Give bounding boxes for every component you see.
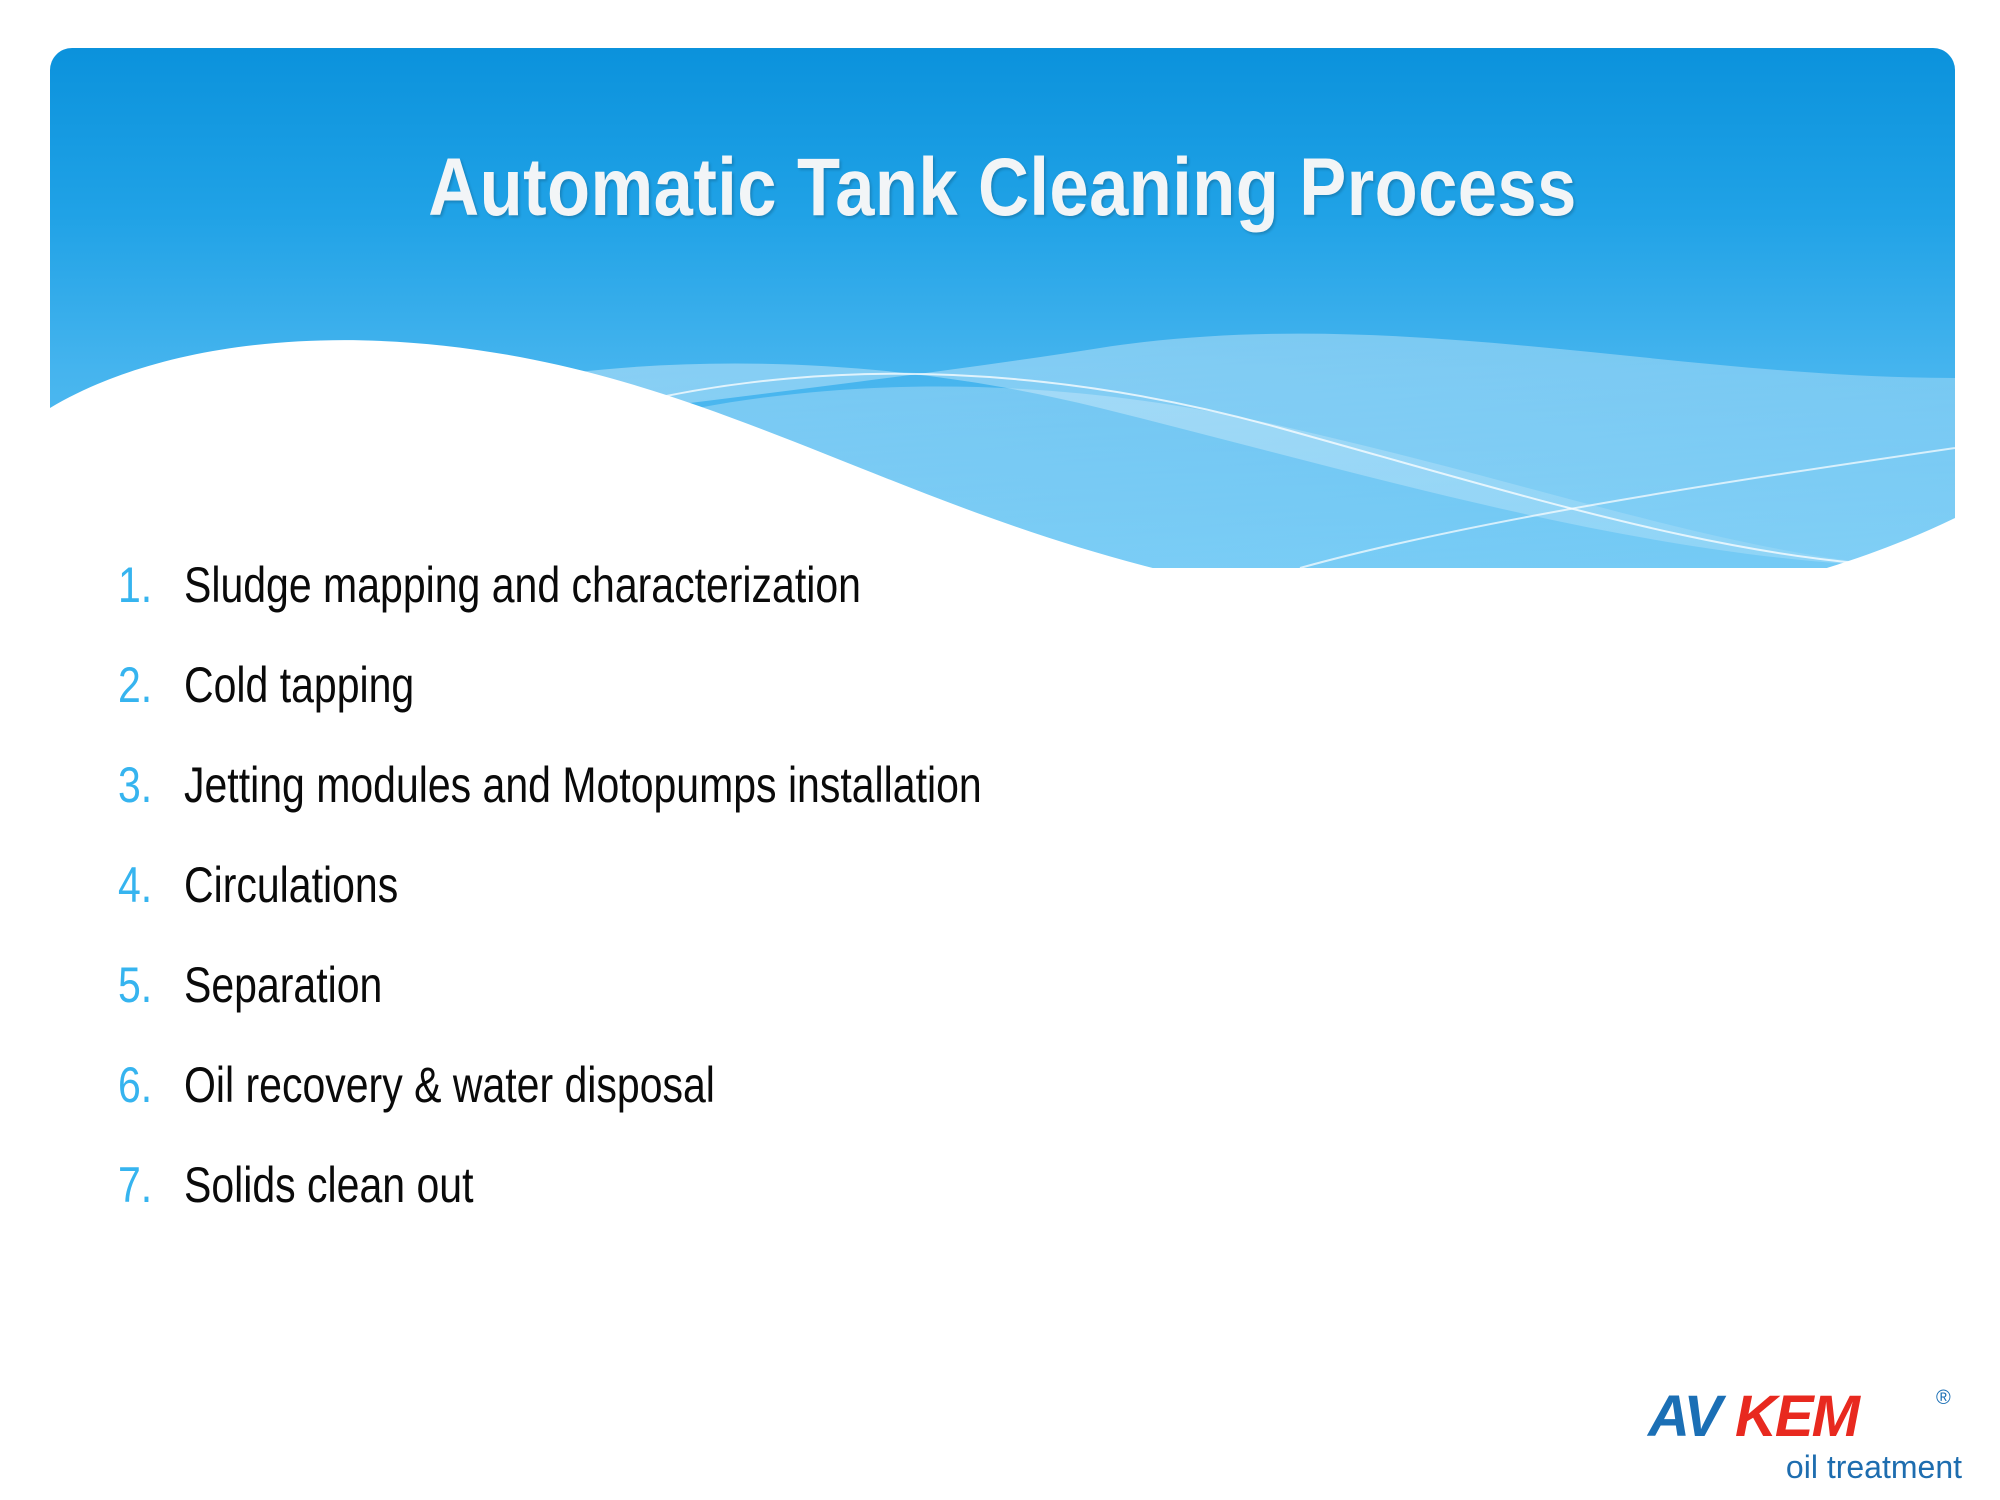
list-item-number: 5. — [118, 956, 172, 1014]
list-item: 5. Separation — [118, 956, 1878, 1056]
page-title: Automatic Tank Cleaning Process — [183, 140, 1821, 236]
list-item-number: 4. — [118, 856, 172, 914]
list-item-number: 2. — [118, 656, 172, 714]
wave-hairline-1 — [350, 374, 1955, 568]
wave-hairline-2 — [1300, 448, 1955, 568]
logo-text-kem: KEM — [1735, 1384, 1862, 1449]
banner-gradient-fill — [50, 48, 1955, 568]
list-item: 4. Circulations — [118, 856, 1878, 956]
list-item-label: Sludge mapping and characterization — [184, 556, 861, 614]
list-item-number: 1. — [118, 556, 172, 614]
list-item: 3. Jetting modules and Motopumps install… — [118, 756, 1878, 856]
wave-band-upper — [220, 334, 1955, 568]
list-item: 1. Sludge mapping and characterization — [118, 556, 1878, 656]
list-item: 6. Oil recovery & water disposal — [118, 1056, 1878, 1156]
wave-band-lower — [310, 387, 1955, 568]
list-item-label: Solids clean out — [184, 1156, 473, 1214]
process-step-list: 1. Sludge mapping and characterization 2… — [118, 556, 1878, 1256]
logo-tagline: oil treatment — [1786, 1449, 1962, 1485]
list-item: 7. Solids clean out — [118, 1156, 1878, 1256]
logo-registered-icon: ® — [1936, 1387, 1951, 1409]
avkem-logo: AV KEM ® oil treatment — [1640, 1378, 1970, 1490]
list-item-label: Jetting modules and Motopumps installati… — [184, 756, 982, 814]
list-item-label: Oil recovery & water disposal — [184, 1056, 715, 1114]
wave-main-white — [50, 340, 1955, 568]
list-item-label: Cold tapping — [184, 656, 414, 714]
list-item-label: Separation — [184, 956, 382, 1014]
logo-text-av: AV — [1646, 1384, 1727, 1449]
avkem-wordmark: AV KEM ® oil treatment — [1646, 1384, 1962, 1485]
list-item-label: Circulations — [184, 856, 398, 914]
slide-canvas: Automatic Tank Cleaning Process 1. Sludg… — [0, 0, 2000, 1500]
header-banner — [50, 48, 1955, 568]
list-item-number: 7. — [118, 1156, 172, 1214]
list-item-number: 3. — [118, 756, 172, 814]
list-item: 2. Cold tapping — [118, 656, 1878, 756]
list-item-number: 6. — [118, 1056, 172, 1114]
